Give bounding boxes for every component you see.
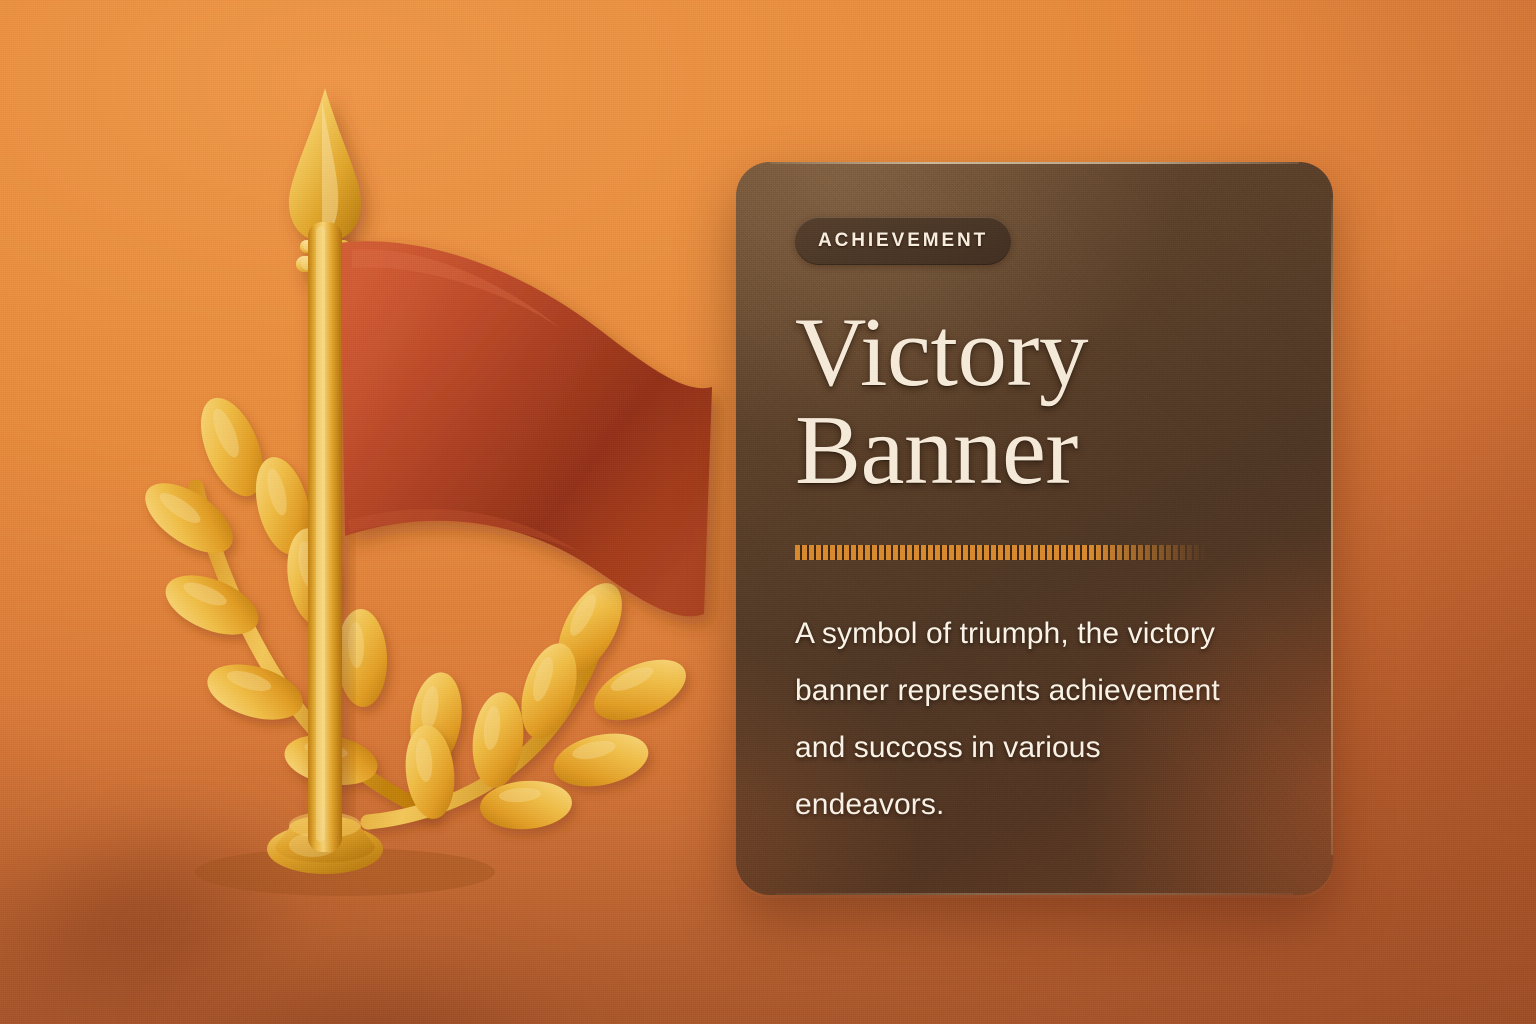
- scene-root: ACHIEVEMENT Victory Banner A symbol of t…: [0, 0, 1536, 1024]
- decorative-divider: [795, 545, 1207, 560]
- card-content: ACHIEVEMENT Victory Banner A symbol of t…: [795, 162, 1293, 895]
- achievement-card: ACHIEVEMENT Victory Banner A symbol of t…: [736, 162, 1333, 895]
- card-title: Victory Banner: [795, 304, 1225, 500]
- red-banner-flag: [340, 241, 722, 616]
- card-description: A symbol of triumph, the victory banner …: [795, 605, 1220, 833]
- category-badge: ACHIEVEMENT: [795, 217, 1011, 265]
- category-badge-label: ACHIEVEMENT: [818, 230, 988, 252]
- card-right-highlight: [1331, 198, 1333, 855]
